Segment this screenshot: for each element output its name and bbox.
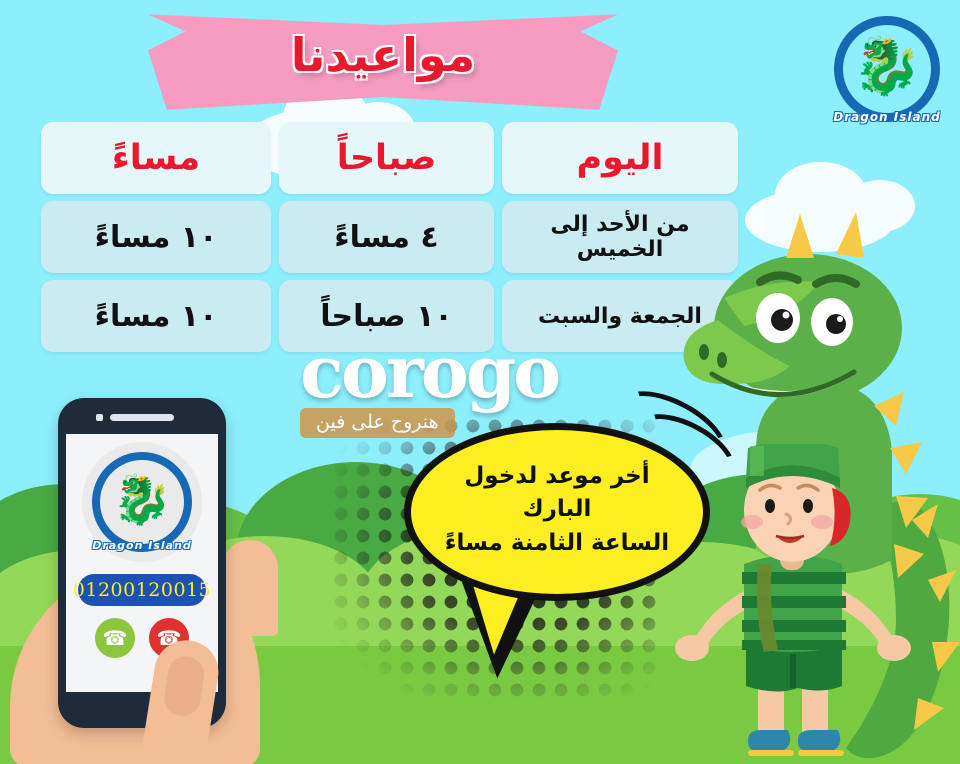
notice-line-2: الساعة الثامنة مساءً bbox=[433, 527, 681, 560]
header-cell-day: اليوم bbox=[502, 122, 738, 194]
phone-number: 01200120015 bbox=[78, 574, 206, 606]
poster-canvas: أخر موعد لدخول البارك الساعة الثامنة مسا… bbox=[0, 0, 960, 764]
brand-logo[interactable]: 🐉 Dragon Island bbox=[826, 8, 948, 130]
header-cell-morning: صباحاً bbox=[279, 122, 494, 194]
cell-evening: ١٠ مساءً bbox=[41, 201, 271, 273]
notice-line-1: أخر موعد لدخول البارك bbox=[433, 460, 681, 527]
boy-character bbox=[672, 444, 912, 764]
header-cell-evening: مساءً bbox=[41, 122, 271, 194]
table-row: الجمعة والسبت ١٠ صباحاً ١٠ مساءً bbox=[38, 280, 738, 352]
title-banner: مواعيدنا bbox=[148, 8, 618, 114]
logo-name: Dragon Island bbox=[826, 110, 948, 124]
dragon-head-icon: 🐉 bbox=[852, 39, 922, 95]
table-row: من الأحد إلى الخميس ٤ مساءً ١٠ مساءً bbox=[38, 201, 738, 273]
phone-logo: 🐉 Dragon Island bbox=[82, 442, 202, 562]
notice-text: أخر موعد لدخول البارك الساعة الثامنة مسا… bbox=[411, 460, 703, 560]
phone-speaker-icon bbox=[110, 414, 174, 421]
table-header-row: اليوم صباحاً مساءً bbox=[38, 122, 738, 194]
schedule-table: اليوم صباحاً مساءً من الأحد إلى الخميس ٤… bbox=[38, 122, 738, 359]
cell-morning: ٤ مساءً bbox=[279, 201, 494, 273]
cell-morning: ١٠ صباحاً bbox=[279, 280, 494, 352]
dragon-head-icon: 🐉 bbox=[112, 476, 172, 524]
phone-call-icon[interactable]: ☎ bbox=[95, 618, 135, 658]
page-title: مواعيدنا bbox=[148, 28, 618, 82]
logo-name: Dragon Island bbox=[82, 539, 202, 552]
cell-evening: ١٠ مساءً bbox=[41, 280, 271, 352]
